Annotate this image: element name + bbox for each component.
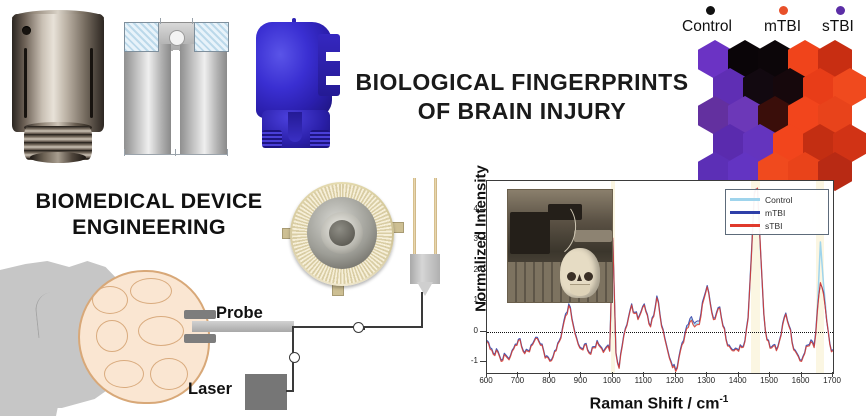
probe-clamp-lower xyxy=(184,334,216,343)
y-axis-tick xyxy=(480,209,486,210)
cad-hatched-cap-right xyxy=(194,22,229,52)
cad-dimension-line-bottom xyxy=(124,154,228,155)
model-teeth-left xyxy=(262,130,282,148)
model-notch-lower xyxy=(326,76,342,85)
chart-legend: Control mTBI sTBI xyxy=(725,189,829,235)
chart-x-axis-label: Raman Shift / cm-1 xyxy=(486,394,832,413)
gyrus-3 xyxy=(96,320,128,352)
cad-section-drawing xyxy=(120,18,232,160)
legend-label-control: Control xyxy=(765,195,792,205)
machined-housing-photo xyxy=(8,14,108,164)
legend-label-stbi: sTBI xyxy=(765,221,782,231)
page-title: BIOLOGICAL FINGERPRINTS OF BRAIN INJURY xyxy=(352,68,692,127)
cad-dim-tick-left xyxy=(124,149,125,156)
cad-center-gap xyxy=(173,50,179,154)
legend-row-mtbi: mTBI xyxy=(730,206,824,219)
face-profile-line xyxy=(34,290,79,338)
wire-to-laser xyxy=(286,390,294,392)
skull-jaw xyxy=(570,284,590,296)
raman-spectrum-chart: Normalized Intensity Control mTBI xyxy=(458,176,858,420)
gyrus-4 xyxy=(138,316,184,346)
y-axis-tick-label: 1 xyxy=(460,295,478,304)
probe-label: Probe xyxy=(216,304,263,323)
optical-fiber-left xyxy=(413,178,416,256)
cad-dim-tick-mid xyxy=(175,149,176,156)
optics-bracket xyxy=(574,230,612,242)
gyrus-6 xyxy=(150,358,188,390)
blue-3d-cad-model xyxy=(248,18,348,158)
cylinder-slot-left xyxy=(24,48,27,118)
y-axis-tick-label: 3 xyxy=(460,234,478,243)
y-axis-tick-label: -1 xyxy=(460,356,478,365)
y-axis-tick xyxy=(480,270,486,271)
som-dot-stbi xyxy=(836,6,845,15)
gyrus-5 xyxy=(104,360,144,388)
som-legend-labels: Control mTBI sTBI xyxy=(676,18,866,38)
y-axis-tick-label: 4 xyxy=(460,204,478,213)
som-legend-dots xyxy=(676,4,866,18)
headline-line-2: OF BRAIN INJURY xyxy=(352,97,692,126)
gyrus-2 xyxy=(130,278,172,304)
skull-phantom xyxy=(560,248,600,298)
x-axis-tick-label: 1400 xyxy=(729,376,747,385)
cylinder-slot-right xyxy=(90,48,93,118)
cylinder-side-hole xyxy=(22,26,31,35)
headline-line-1: BIOLOGICAL FINGERPRINTS xyxy=(355,69,688,95)
bme-line-2: ENGINEERING xyxy=(72,215,226,239)
model-right-boss xyxy=(318,34,340,96)
x-axis-label-text: Raman Shift / cm xyxy=(590,395,720,412)
cad-dim-tick-right xyxy=(227,149,228,156)
wire-fiber-riser xyxy=(421,292,423,328)
legend-swatch-stbi xyxy=(730,224,760,227)
y-axis-tick-label: 2 xyxy=(460,265,478,274)
skull-nasal-aperture xyxy=(577,274,582,281)
som-label-stbi: sTBI xyxy=(822,18,854,36)
y-axis-tick xyxy=(480,361,486,362)
wire-node-left xyxy=(289,352,300,363)
model-notch-upper xyxy=(326,52,342,61)
legend-label-mtbi: mTBI xyxy=(765,208,785,218)
x-axis-tick-label: 1600 xyxy=(792,376,810,385)
x-axis-tick-label: 1000 xyxy=(603,376,621,385)
x-axis-tick-label: 600 xyxy=(479,376,492,385)
legend-swatch-control xyxy=(730,198,760,201)
model-v-notch xyxy=(288,112,302,142)
cad-dim-tick-top-right xyxy=(192,18,193,24)
wire-junction-to-fibertip xyxy=(363,326,423,328)
skull-eye-right xyxy=(584,272,593,281)
x-axis-tick-label: 1700 xyxy=(823,376,841,385)
gyrus-1 xyxy=(92,286,128,314)
x-axis-label-exponent: -1 xyxy=(719,394,728,405)
section-title-biomedical-device-engineering: BIOMEDICAL DEVICE ENGINEERING xyxy=(4,188,294,240)
x-axis-tick-label: 1200 xyxy=(666,376,684,385)
som-dot-mtbi xyxy=(779,6,788,15)
x-axis-tick-label: 1500 xyxy=(760,376,778,385)
laser-source-box xyxy=(245,374,287,410)
y-axis-tick xyxy=(480,300,486,301)
chart-plot-area: Control mTBI sTBI xyxy=(486,180,834,374)
bme-line-1: BIOMEDICAL DEVICE xyxy=(36,189,263,213)
skull-eye-left xyxy=(567,272,576,281)
som-label-control: Control xyxy=(682,18,732,36)
cad-right-column xyxy=(180,44,227,154)
y-axis-tick-label: 0 xyxy=(460,326,478,335)
x-axis-tick-label: 1100 xyxy=(635,376,652,385)
cad-center-bore xyxy=(169,30,185,46)
thread-collar-bottom xyxy=(30,152,86,163)
legend-row-stbi: sTBI xyxy=(730,219,824,232)
laser-label: Laser xyxy=(188,380,232,399)
legend-swatch-mtbi xyxy=(730,211,760,214)
y-axis-tick xyxy=(480,239,486,240)
legend-row-control: Control xyxy=(730,193,824,206)
cad-left-column xyxy=(124,44,171,154)
self-organizing-map-hexgrid xyxy=(698,40,864,170)
cad-dim-tick-top-left xyxy=(160,18,161,24)
probe-clamp-upper xyxy=(184,310,216,319)
y-axis-tick xyxy=(480,331,486,332)
experimental-setup-inset-photo xyxy=(507,189,613,303)
som-dot-control xyxy=(706,6,715,15)
som-label-mtbi: mTBI xyxy=(764,18,801,36)
som-legend: Control mTBI sTBI xyxy=(676,4,866,40)
cad-hatched-cap-left xyxy=(124,22,159,52)
optical-fiber-right xyxy=(434,178,437,256)
x-axis-tick-label: 800 xyxy=(542,376,555,385)
ring-center-bore xyxy=(329,220,355,246)
model-teeth-right xyxy=(310,130,330,148)
x-axis-tick-label: 1300 xyxy=(697,376,715,385)
wire-node-right xyxy=(353,322,364,333)
probe-placement-schematic: Probe Laser xyxy=(0,252,450,420)
x-axis-tick-label: 900 xyxy=(574,376,587,385)
x-axis-tick-label: 700 xyxy=(511,376,524,385)
